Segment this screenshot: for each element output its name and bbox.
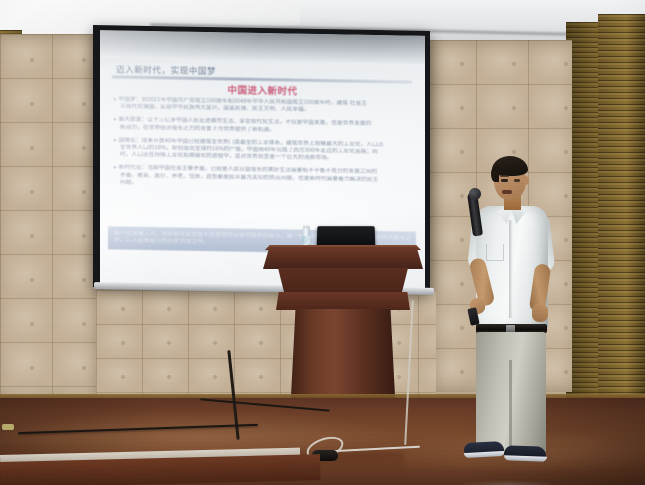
eyebrow [500, 175, 509, 177]
water-bottle-label [302, 236, 310, 244]
eye-left [501, 179, 508, 182]
trouser-leg-seam [509, 360, 512, 452]
shoe-left-sole [464, 451, 505, 458]
hair-sideburn [491, 166, 499, 182]
wood-panel-far-right [598, 14, 645, 414]
lectern-shelf [276, 292, 410, 310]
lectern-top [263, 247, 423, 269]
shoe-right-sole [504, 455, 547, 461]
floor-debris [2, 424, 14, 430]
presenter-floor-reflection [458, 480, 558, 485]
presentation-photo-scene: 迈入新时代，实现中国梦 中国进入新时代 中国梦：到2021年中国共产党成立100… [0, 0, 645, 485]
eye-right [514, 179, 520, 182]
lectern-neck [278, 268, 408, 294]
bullet-item: 国情论：改革开放40年中国已经建成全世界门类最全的工业体系，建成世界上规模最大的… [114, 137, 414, 164]
bullet-item: 最大愿景：让十三亿多中国人民走进城市生活、享受现代化生活，不仅是中国发展，也是世… [114, 117, 414, 137]
mouth [502, 190, 512, 194]
hand-right [532, 304, 548, 322]
presenter [452, 152, 568, 482]
shirt-placket [509, 220, 513, 318]
stone-tile-wall-left [0, 34, 104, 399]
bullet-item: 新时代论：当前中国社会主要矛盾，已经是人民日益增长的美好生活需要和不平衡不充分的… [114, 165, 414, 192]
microphone-head-icon [468, 187, 482, 201]
shirt-pocket [486, 244, 504, 261]
ear [523, 176, 529, 185]
bullet-item: 中国梦：到2021年中国共产党成立100周年和2049年中华人民共和国成立100… [114, 96, 414, 116]
slide-bullet-list: 中国梦：到2021年中国共产党成立100周年和2049年中华人民共和国成立100… [114, 96, 414, 197]
